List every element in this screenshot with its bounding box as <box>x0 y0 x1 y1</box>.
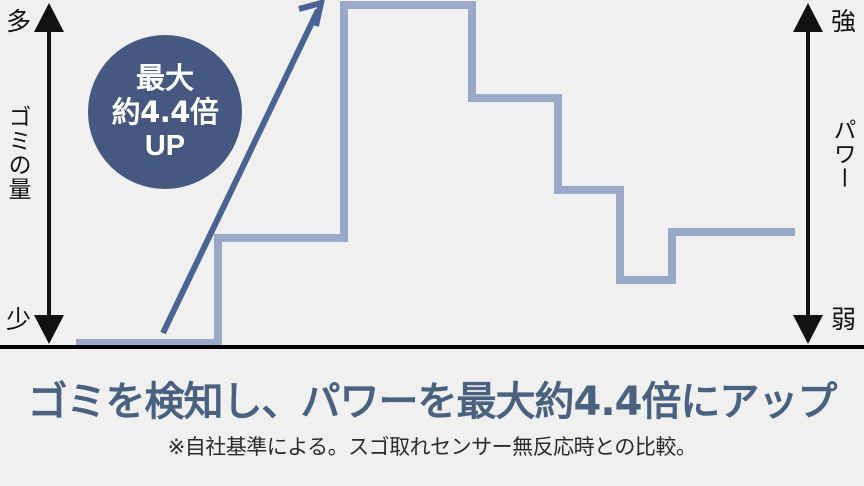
left-axis-title: ゴミの量 <box>3 105 31 201</box>
right-axis-top-label: 強 <box>831 9 856 34</box>
chart-baseline <box>0 345 864 349</box>
headline-text: ゴミを検知し、パワーを最大約4.4倍にアップ <box>0 382 864 422</box>
badge-line-3: UP <box>145 129 185 163</box>
footnote-text: ※自社基準による。スゴ取れセンサー無反応時との比較。 <box>0 437 864 458</box>
left-axis-top-label: 多 <box>6 9 31 34</box>
right-axis-title: パワー <box>828 118 856 190</box>
infographic-root: 多 ゴミの量 少 強 パワー 弱 最大 約4.4倍 UP ゴミを検知し、パワーを… <box>0 0 864 486</box>
left-axis-arrow <box>34 3 64 344</box>
caption-region: ゴミを検知し、パワーを最大約4.4倍にアップ ※自社基準による。スゴ取れセンサー… <box>0 350 864 486</box>
highlight-badge: 最大 約4.4倍 UP <box>88 35 242 189</box>
chart-region: 多 ゴミの量 少 強 パワー 弱 最大 約4.4倍 UP <box>0 0 864 350</box>
badge-line-1: 最大 <box>136 61 194 95</box>
badge-line-2: 約4.4倍 <box>112 95 219 129</box>
left-axis-bottom-label: 少 <box>6 307 31 332</box>
right-axis-arrow <box>793 3 823 344</box>
right-axis-bottom-label: 弱 <box>831 307 856 332</box>
